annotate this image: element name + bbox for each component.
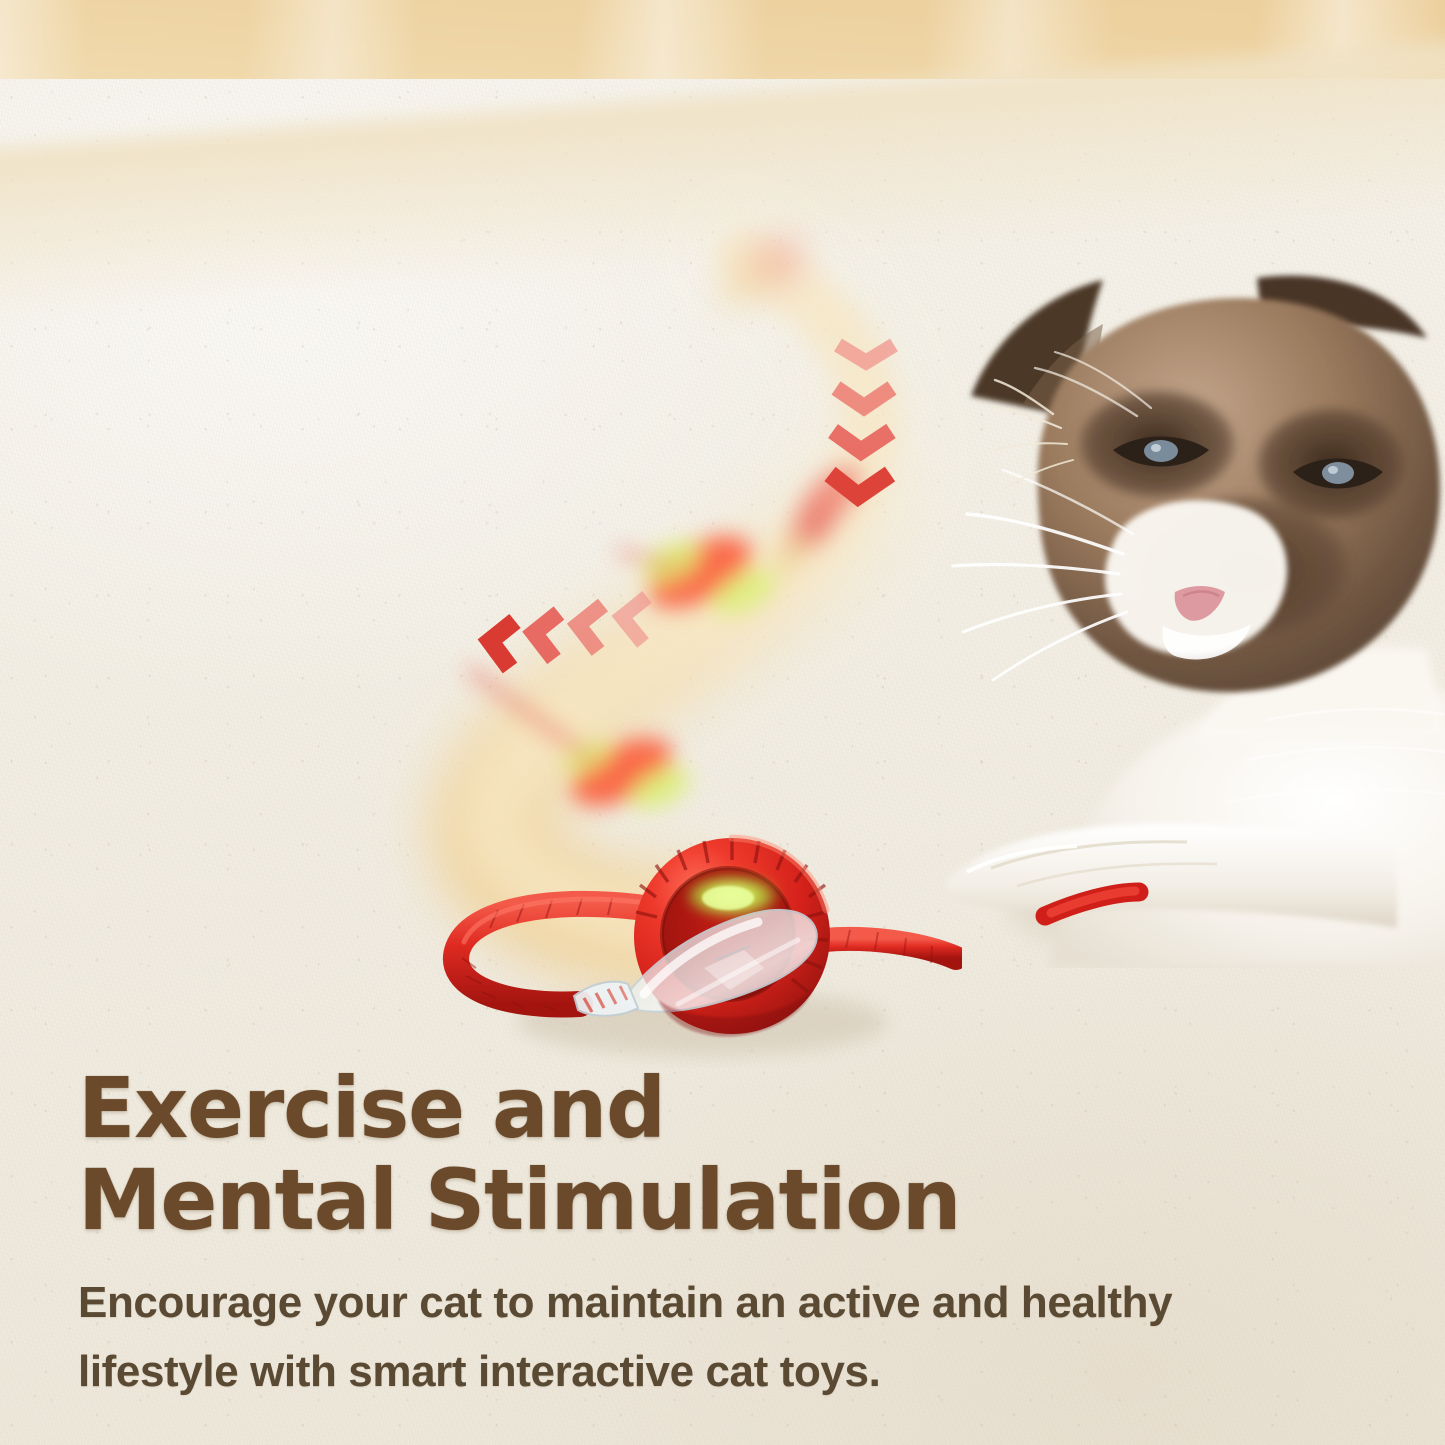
led-rolling-ball-toy xyxy=(432,818,962,1068)
page-subtitle: Encourage your cat to maintain an active… xyxy=(78,1268,1368,1406)
cat-head xyxy=(953,276,1440,693)
capsule-connector xyxy=(574,982,638,1016)
page-title: Exercise and Mental Stimulation xyxy=(78,1062,1368,1246)
product-marketing-image: Exercise and Mental Stimulation Encourag… xyxy=(0,0,1445,1445)
cat-photo xyxy=(927,268,1445,968)
cord-tail-right xyxy=(824,939,956,958)
led-core xyxy=(702,886,754,910)
copy-block: Exercise and Mental Stimulation Encourag… xyxy=(78,1062,1368,1406)
